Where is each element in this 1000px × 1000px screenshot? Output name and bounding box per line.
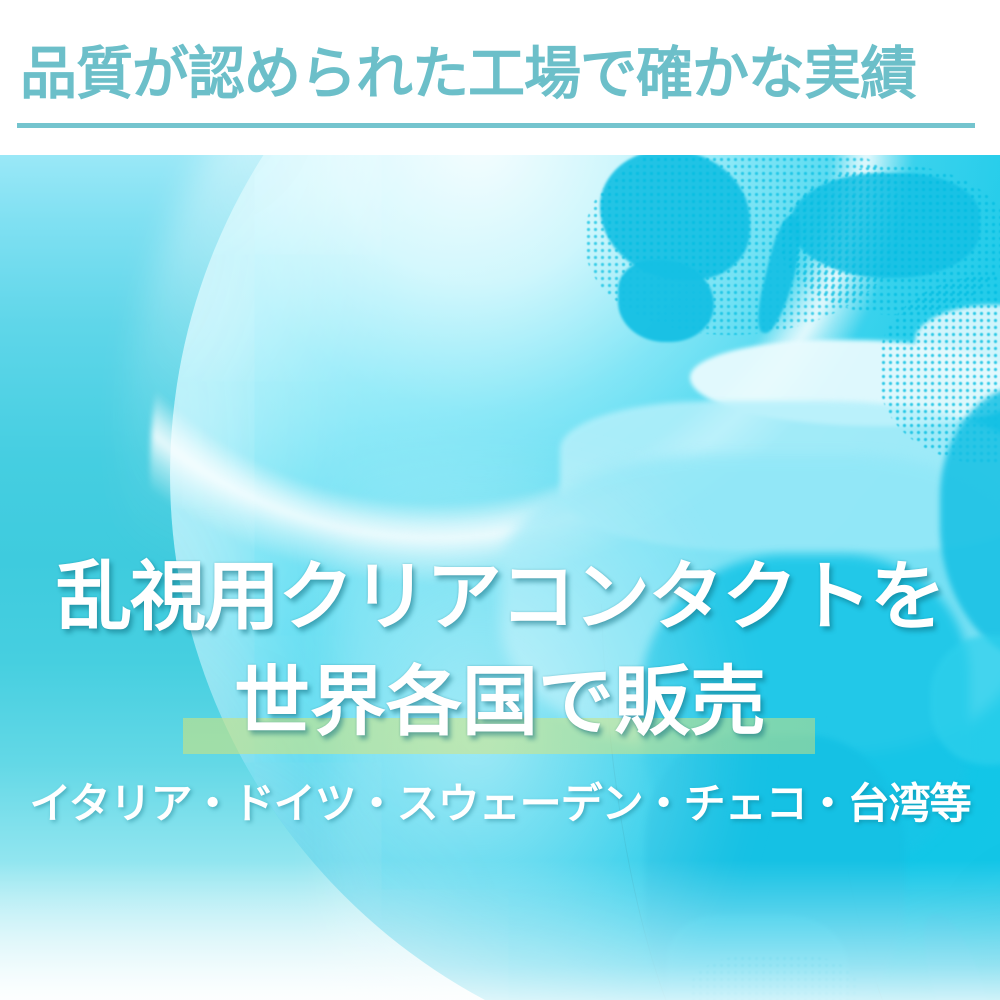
header-divider	[17, 123, 975, 128]
bottom-fade	[0, 860, 1000, 1000]
header-title: 品質が認められた工場で確かな実績	[20, 43, 980, 105]
banner-header: 品質が認められた工場で確かな実績	[0, 0, 1000, 155]
hero-title-line-1: 乱視用クリアコンタクトを	[0, 545, 1000, 650]
hero-globe-image: 乱視用クリアコンタクトを 世界各国で販売 イタリア・ドイツ・スウェーデン・チェコ…	[0, 155, 1000, 1000]
hero-subtitle: イタリア・ドイツ・スウェーデン・チェコ・台湾等	[0, 778, 1000, 830]
hero-title: 乱視用クリアコンタクトを 世界各国で販売	[0, 545, 1000, 755]
hero-title-line-2: 世界各国で販売	[0, 650, 1000, 755]
promo-banner: 品質が認められた工場で確かな実績	[0, 0, 1000, 1000]
